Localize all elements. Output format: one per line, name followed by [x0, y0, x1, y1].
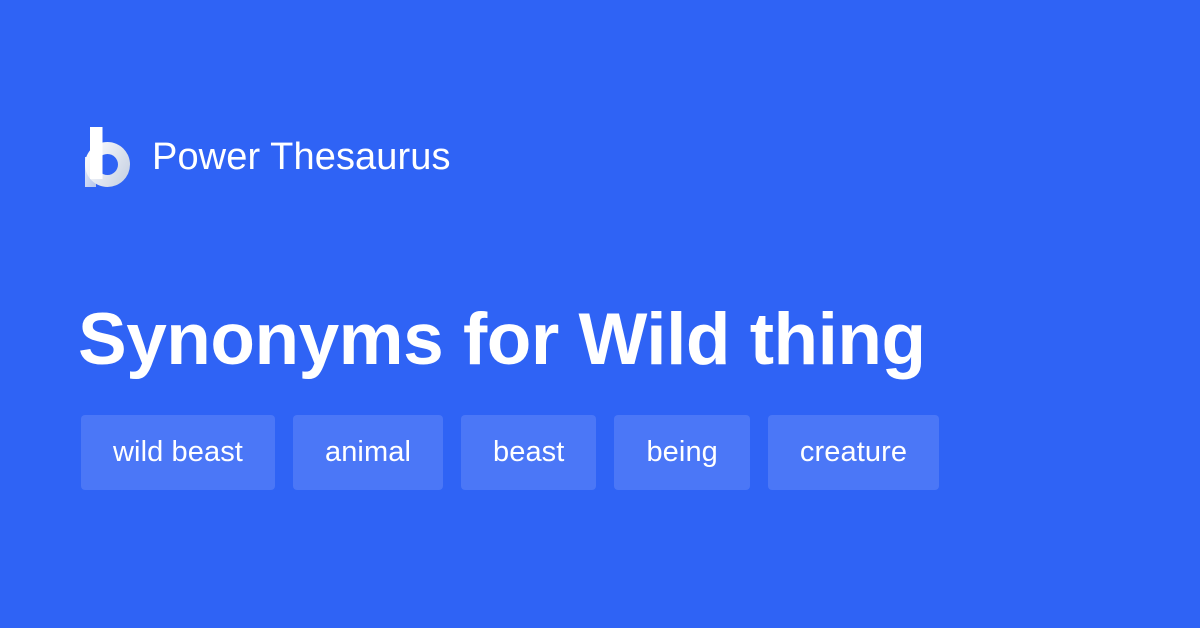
synonym-chip[interactable]: being [614, 415, 749, 490]
synonym-chip[interactable]: wild beast [81, 415, 275, 490]
synonym-chip[interactable]: animal [293, 415, 443, 490]
synonym-chip-list: wild beast animal beast being creature [81, 415, 1141, 490]
brand-header[interactable]: Power Thesaurus [81, 126, 451, 188]
brand-wordmark: Power Thesaurus [152, 135, 451, 179]
power-thesaurus-logo-icon [81, 127, 130, 187]
synonym-chip[interactable]: beast [461, 415, 596, 490]
share-card: Power Thesaurus Synonyms for Wild thing … [0, 0, 1200, 628]
page-title: Synonyms for Wild thing [78, 297, 1128, 383]
synonym-chip[interactable]: creature [768, 415, 939, 490]
